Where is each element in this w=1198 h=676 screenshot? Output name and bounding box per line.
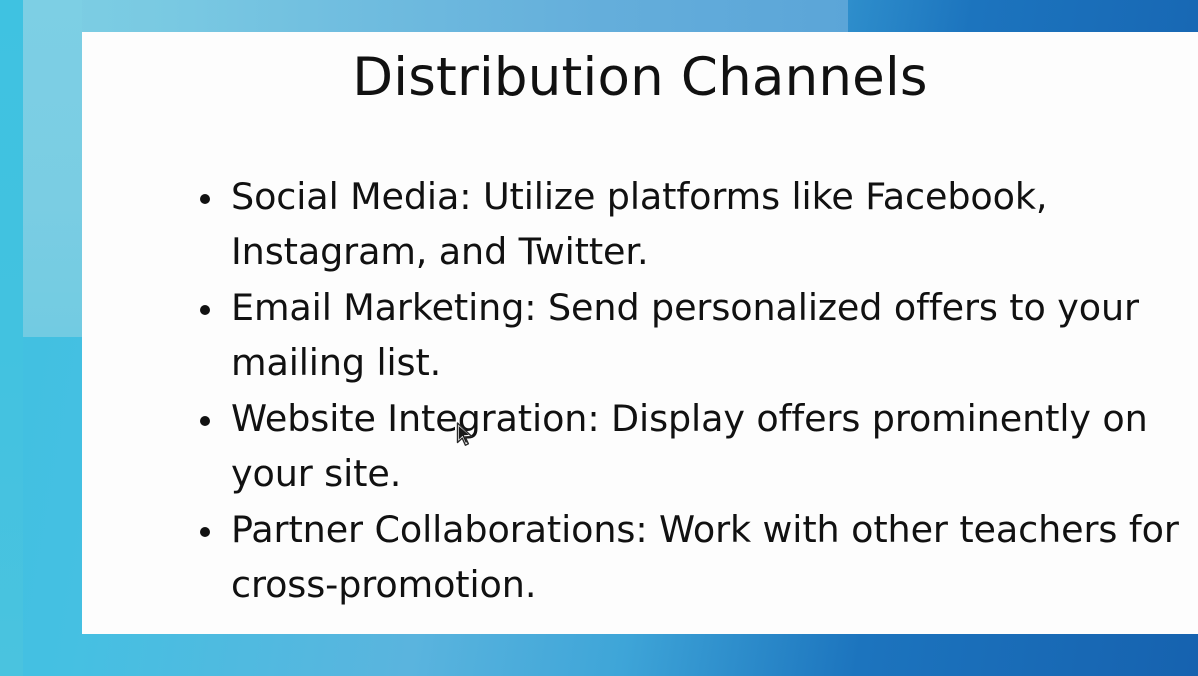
bullet-item-social-media: Social Media: Utilize platforms like Fac…: [192, 170, 1182, 279]
slide-background-light-panel: [23, 0, 82, 337]
slide-title: Distribution Channels: [82, 48, 1198, 109]
slide-background-left-edge-band: [0, 0, 23, 676]
slide-content-area: Distribution Channels Social Media: Util…: [82, 32, 1198, 634]
bullet-dot-icon: [200, 194, 210, 204]
presentation-slide: Distribution Channels Social Media: Util…: [0, 0, 1198, 676]
bullet-item-email-marketing: Email Marketing: Send personalized offer…: [192, 281, 1182, 390]
bullet-item-partner-collaborations: Partner Collaborations: Work with other …: [192, 503, 1182, 612]
bullet-item-text: Website Integration: Display offers prom…: [231, 397, 1148, 495]
bullet-dot-icon: [200, 305, 210, 315]
slide-bullet-list: Social Media: Utilize platforms like Fac…: [192, 170, 1182, 614]
slide-background-top-band: [23, 0, 848, 32]
bullet-item-text: Email Marketing: Send personalized offer…: [231, 286, 1139, 384]
bullet-dot-icon: [200, 527, 210, 537]
bullet-item-text: Social Media: Utilize platforms like Fac…: [231, 175, 1047, 273]
bullet-item-text: Partner Collaborations: Work with other …: [231, 508, 1179, 606]
bullet-item-website-integration: Website Integration: Display offers prom…: [192, 392, 1182, 501]
slide-content-card: Distribution Channels Social Media: Util…: [82, 32, 1198, 634]
bullet-dot-icon: [200, 416, 210, 426]
